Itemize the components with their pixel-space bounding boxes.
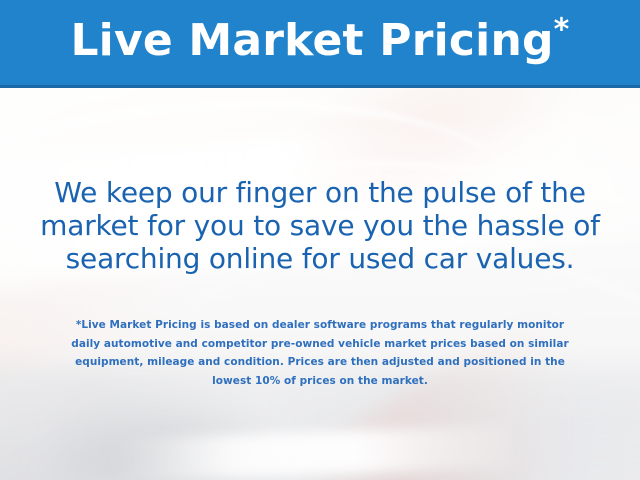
page-title-footnote-marker: * — [554, 12, 570, 47]
headline: We keep our finger on the pulse of the m… — [0, 176, 640, 275]
page-title-text: Live Market Pricing — [70, 15, 553, 66]
live-market-pricing-slide: Live Market Pricing* We keep our finger … — [0, 0, 640, 480]
headline-line-1: We keep our finger on the pulse of the — [0, 176, 640, 209]
content-area: We keep our finger on the pulse of the m… — [0, 88, 640, 480]
header-band: Live Market Pricing* — [0, 0, 640, 88]
page-title: Live Market Pricing* — [70, 19, 569, 63]
disclaimer-line-3: equipment, mileage and condition. Prices… — [0, 353, 640, 372]
headline-line-2: market for you to save you the hassle of — [0, 209, 640, 242]
disclaimer-line-2: daily automotive and competitor pre-owne… — [0, 335, 640, 354]
disclaimer-footnote: *Live Market Pricing is based on dealer … — [0, 316, 640, 390]
disclaimer-line-4: lowest 10% of prices on the market. — [0, 372, 640, 391]
disclaimer-line-1: *Live Market Pricing is based on dealer … — [0, 316, 640, 335]
headline-line-3: searching online for used car values. — [0, 242, 640, 275]
